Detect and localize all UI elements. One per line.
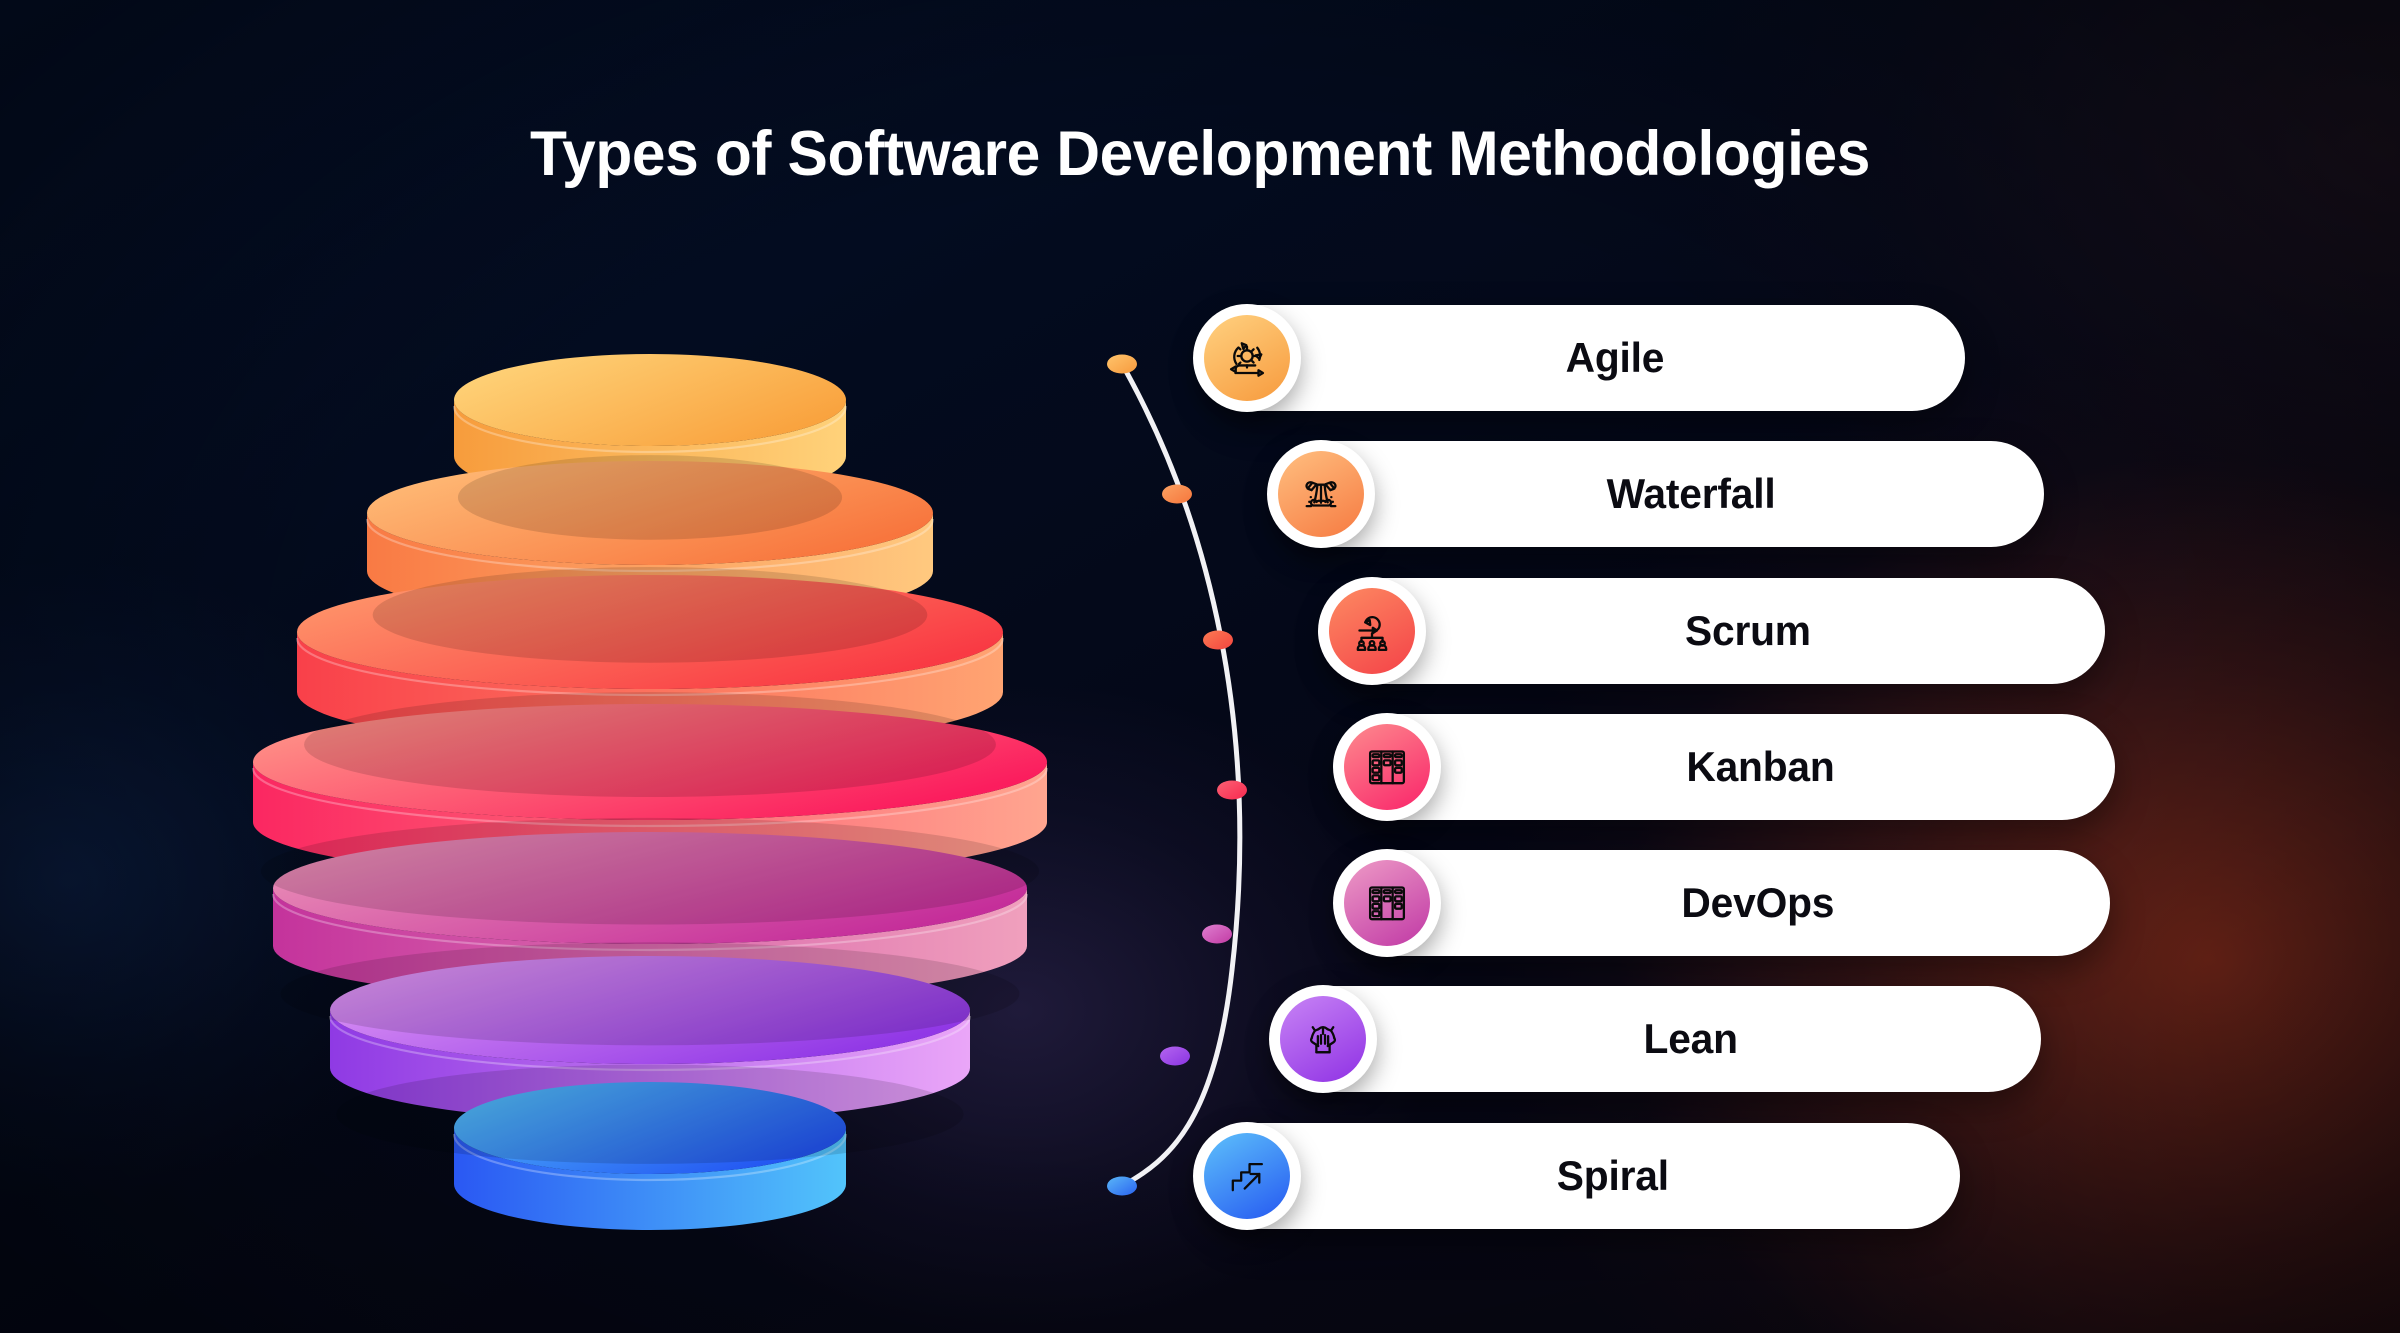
methodology-label: Agile [1478,334,1691,382]
methodology-label: Waterfall [1520,470,1803,518]
spiral-stairs-arrow-icon [1204,1133,1290,1219]
connector-dot-agile [1107,355,1137,374]
kanban-board-icon [1344,724,1430,810]
disc-7 [336,1065,963,1230]
methodology-icon-badge[interactable] [1193,1122,1301,1230]
methodology-item-waterfall[interactable]: Waterfall [1279,441,2044,547]
infographic-canvas: Types of Software Development Methodolog… [0,0,2400,1333]
methodology-item-lean[interactable]: Lean [1281,986,2041,1092]
methodology-icon-badge[interactable] [1267,440,1375,548]
methodology-item-spiral[interactable]: Spiral [1205,1123,1960,1229]
scrum-team-icon [1329,588,1415,674]
lean-hands-icon [1280,996,1366,1082]
disc-stack-illustration [0,0,1100,1333]
methodology-icon-badge[interactable] [1269,985,1377,1093]
methodology-label: Spiral [1469,1152,1696,1200]
waterfall-icon [1278,451,1364,537]
connector-dot-kanban [1217,781,1247,800]
connector-dot-spiral [1107,1177,1137,1196]
methodology-label: Scrum [1597,607,1837,655]
methodology-label: DevOps [1594,879,1861,927]
methodology-item-agile[interactable]: Agile [1205,305,1965,411]
methodology-icon-badge[interactable] [1193,304,1301,412]
connector-dot-lean [1160,1047,1190,1066]
devops-board-icon [1344,860,1430,946]
connector-arc [1060,330,1260,1230]
agile-cycle-gear-icon [1204,315,1290,401]
connector-dot-devops [1202,925,1232,944]
methodology-item-devops[interactable]: DevOps [1345,850,2110,956]
methodology-item-scrum[interactable]: Scrum [1330,578,2105,684]
methodology-label: Lean [1557,1015,1766,1063]
methodology-icon-badge[interactable] [1333,713,1441,821]
methodology-icon-badge[interactable] [1318,577,1426,685]
connector-dot-waterfall [1162,485,1192,504]
methodology-label: Kanban [1599,743,1862,791]
connector-dot-scrum [1203,631,1233,650]
methodology-icon-badge[interactable] [1333,849,1441,957]
methodology-item-kanban[interactable]: Kanban [1345,714,2115,820]
